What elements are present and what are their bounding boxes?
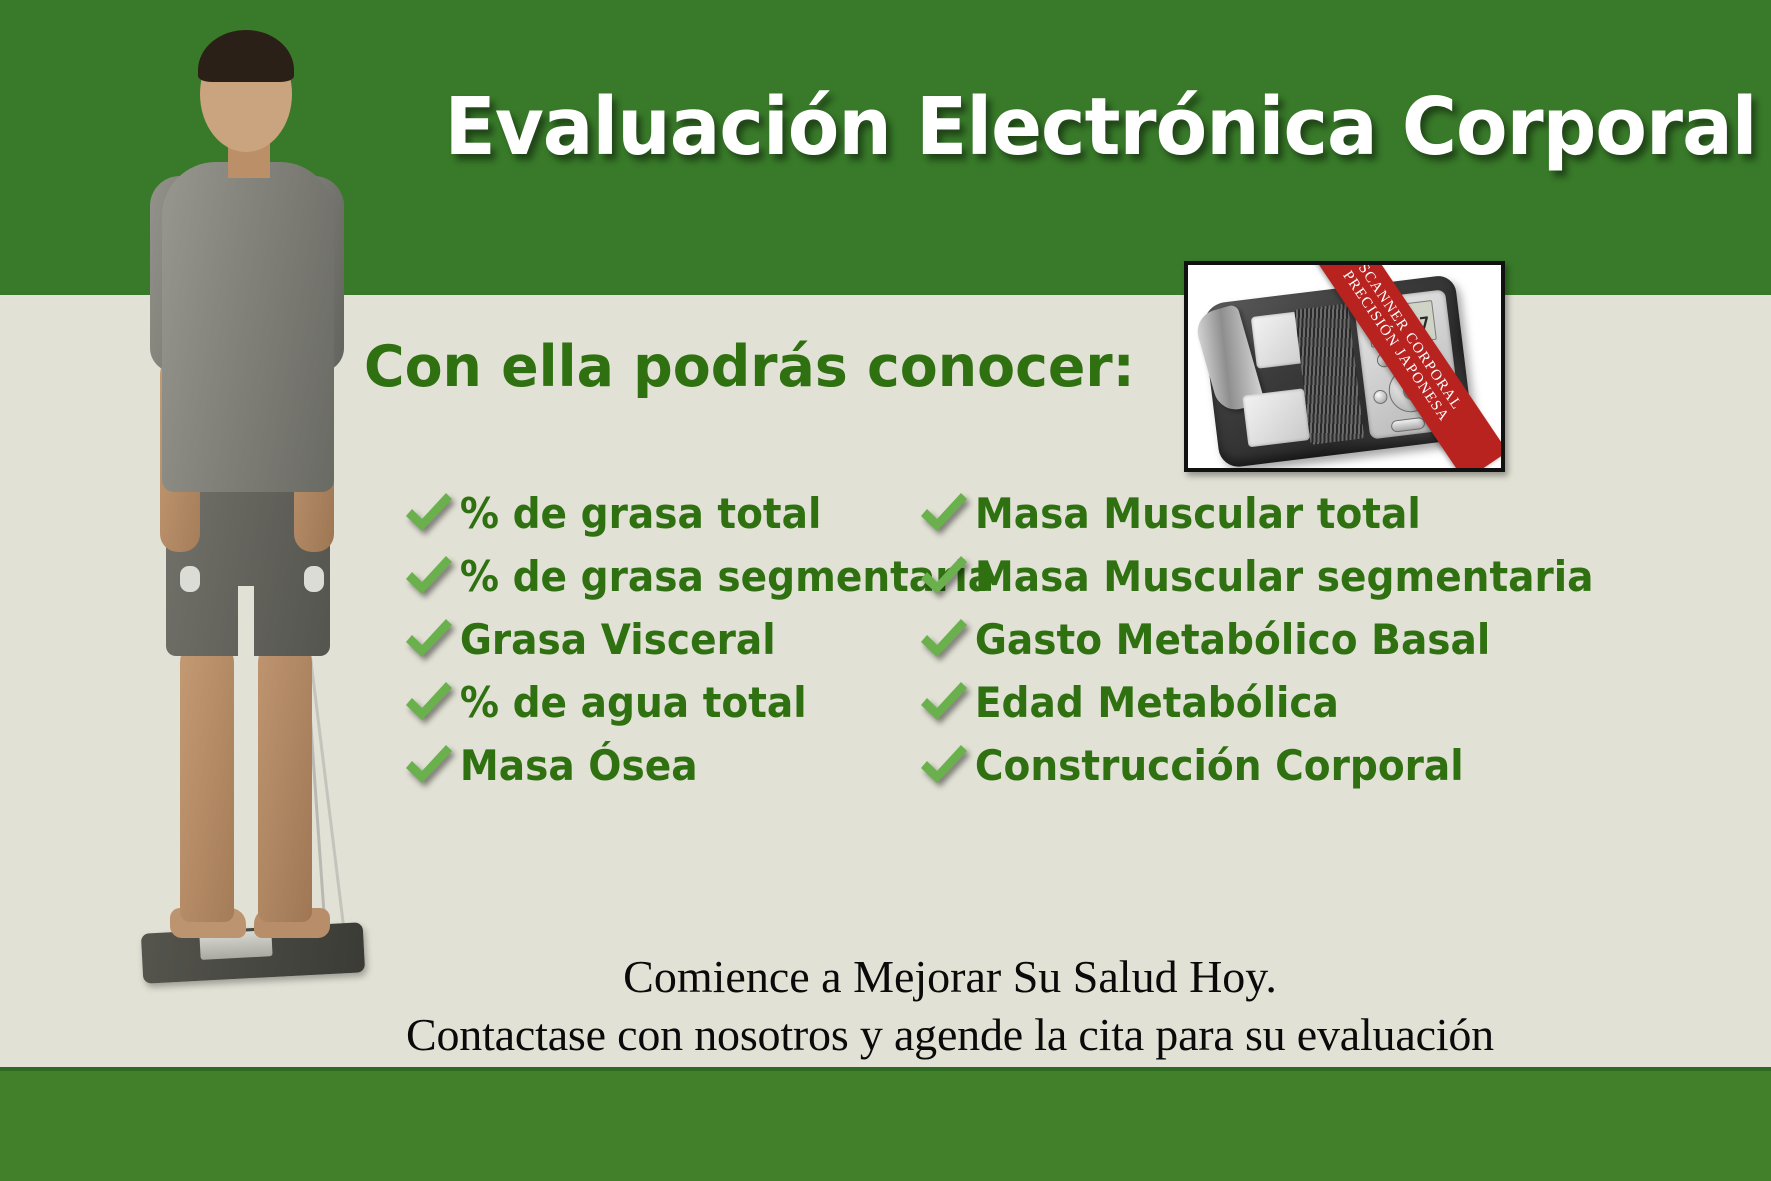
- hair: [198, 30, 294, 82]
- cta-line-1: Comience a Mejorar Su Salud Hoy.: [360, 948, 1540, 1006]
- scanner-button: [1373, 389, 1389, 405]
- check-icon: [400, 549, 456, 605]
- scanner-dpad: [1386, 366, 1435, 415]
- scanner-button: [1436, 381, 1452, 397]
- check-icon: [915, 675, 971, 731]
- list-item-label: Masa Ósea: [458, 745, 698, 787]
- check-icon: [400, 486, 456, 542]
- list-item: Construcción Corporal: [915, 734, 1555, 797]
- list-item-label: Gasto Metabólico Basal: [973, 619, 1490, 661]
- list-item: % de grasa segmentaria: [400, 545, 925, 608]
- list-item: Edad Metabólica: [915, 671, 1555, 734]
- check-icon: [915, 738, 971, 794]
- list-item-label: Masa Muscular segmentaria: [973, 556, 1594, 598]
- list-item: % de grasa total: [400, 482, 925, 545]
- list-item-label: Construcción Corporal: [973, 745, 1464, 787]
- hand-grip-right: [304, 566, 324, 592]
- scanner-button: [1434, 412, 1450, 428]
- poster-root: Evaluación Electrónica Corporal Con ella…: [0, 0, 1771, 1181]
- leg-right: [258, 642, 312, 922]
- call-to-action-text: Comience a Mejorar Su Salud Hoy. Contact…: [360, 948, 1540, 1063]
- scanner-body: 24.7: [1201, 274, 1474, 469]
- cta-line-2: Contactase con nosotros y agende la cita…: [360, 1006, 1540, 1064]
- scanner-lcd-display: 24.7: [1366, 300, 1436, 348]
- subtitle: Con ella podrás conocer:: [364, 334, 1135, 400]
- scanner-button: [1424, 347, 1440, 363]
- scanner-set-button: [1390, 417, 1425, 433]
- list-item: Masa Muscular segmentaria: [915, 545, 1555, 608]
- list-item: Masa Ósea: [400, 734, 925, 797]
- scanner-button: [1376, 352, 1392, 368]
- check-icon: [915, 612, 971, 668]
- list-item-label: Edad Metabólica: [973, 682, 1339, 724]
- list-item-label: Grasa Visceral: [458, 619, 776, 661]
- list-item: Gasto Metabólico Basal: [915, 608, 1555, 671]
- benefits-column-left: % de grasa total % de grasa segmentaria …: [400, 482, 925, 797]
- scanner-device-photo: 24.7 SCANNER CORPORAL PRECISIÓN JAPONESA: [1184, 261, 1505, 472]
- shorts-gap: [238, 586, 254, 660]
- scanner-control-panel: 24.7: [1353, 289, 1461, 439]
- list-item-label: Masa Muscular total: [973, 493, 1421, 535]
- page-title: Evaluación Electrónica Corporal: [445, 88, 1566, 167]
- list-item: Masa Muscular total: [915, 482, 1555, 545]
- list-item-label: % de grasa segmentaria: [458, 556, 994, 598]
- check-icon: [915, 486, 971, 542]
- leg-left: [180, 642, 234, 922]
- check-icon: [915, 549, 971, 605]
- check-icon: [400, 675, 456, 731]
- list-item-label: % de grasa total: [458, 493, 821, 535]
- footer-green-bar: [0, 1071, 1771, 1181]
- list-item: Grasa Visceral: [400, 608, 925, 671]
- foot-electrode-pad: [1242, 388, 1310, 447]
- check-icon: [400, 738, 456, 794]
- check-icon: [400, 612, 456, 668]
- person-photo: [82, 26, 382, 996]
- scanner-button: [1400, 348, 1416, 364]
- hand-grip-left: [180, 566, 200, 592]
- benefits-column-right: Masa Muscular total Masa Muscular segmen…: [915, 482, 1555, 797]
- list-item-label: % de agua total: [458, 682, 807, 724]
- list-item: % de agua total: [400, 671, 925, 734]
- torso-shirt: [162, 162, 334, 492]
